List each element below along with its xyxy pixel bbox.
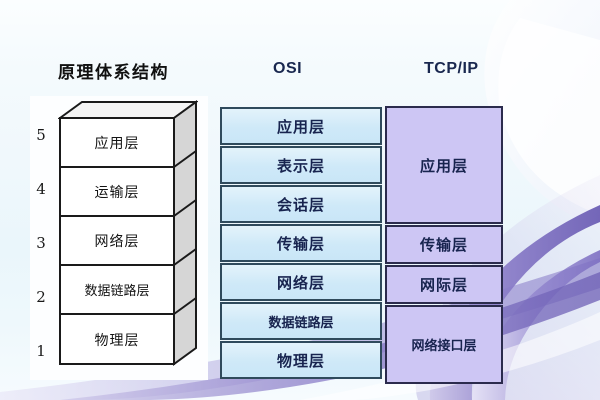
layer-number-4: 4: [28, 180, 54, 198]
principle-stack-numbers: 5 4 3 2 1: [28, 104, 54, 376]
page-title-osi: OSI: [273, 60, 302, 78]
layer-number-3: 3: [28, 234, 54, 252]
osi-layer-physical: 物理层: [220, 341, 382, 379]
osi-stack: 应用层 表示层 会话层 传输层 网络层 数据链路层 物理层: [220, 107, 382, 380]
principle-layer-network: 网络层: [58, 231, 176, 251]
page-title-tcpip: TCP/IP: [424, 60, 479, 78]
layer-number-1: 1: [28, 342, 54, 360]
tcpip-stack: 应用层 传输层 网际层 网络接口层: [385, 106, 503, 385]
principle-layer-datalink: 数据链路层: [58, 280, 176, 299]
tcpip-layer-application: 应用层: [385, 106, 503, 224]
tcpip-layer-transport: 传输层: [385, 225, 503, 264]
layer-number-5: 5: [28, 126, 54, 144]
osi-layer-transport: 传输层: [220, 224, 382, 262]
principle-layer-transport: 运输层: [58, 182, 176, 202]
slide-stage: 原理体系结构 OSI TCP/IP 5 4 3 2 1 应用层 运输层: [0, 0, 600, 400]
layer-number-2: 2: [28, 288, 54, 306]
page-title-principle: 原理体系结构: [58, 58, 169, 83]
tcpip-layer-network-interface: 网络接口层: [385, 305, 503, 384]
osi-layer-session: 会话层: [220, 185, 382, 223]
osi-layer-presentation: 表示层: [220, 146, 382, 184]
osi-layer-application: 应用层: [220, 107, 382, 145]
osi-layer-datalink: 数据链路层: [220, 302, 382, 340]
principle-layer-application: 应用层: [58, 133, 176, 153]
osi-layer-network: 网络层: [220, 263, 382, 301]
principle-stack-3d-box: 应用层 运输层 网络层 数据链路层 物理层: [58, 100, 198, 376]
principle-layer-physical: 物理层: [58, 330, 176, 350]
tcpip-layer-internet: 网际层: [385, 265, 503, 304]
